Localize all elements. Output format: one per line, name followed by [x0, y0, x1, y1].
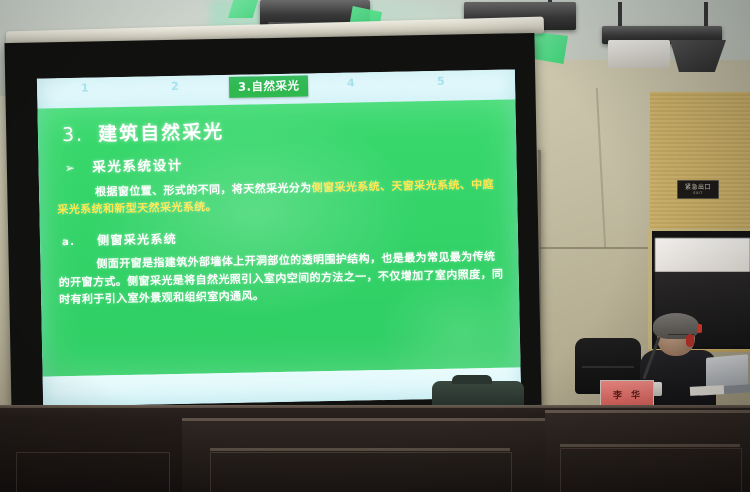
slide-paragraph-2-text: 侧面开窗是指建筑外部墙体上开洞部位的透明围护结构，也是最为常见最为传统的开窗方式… [59, 250, 504, 306]
slide-tab-4[interactable]: 4 [347, 77, 355, 90]
desk-inset-panel-right [560, 448, 742, 492]
slide-title: 3.建筑自然采光 [62, 117, 225, 147]
desk-molding-mid [210, 448, 510, 451]
projector-right-white-unit [608, 40, 670, 68]
emergency-exit-sign: 紧急出口 EXIT [677, 180, 719, 199]
slide-subheading-text: 侧窗采光系统 [97, 232, 177, 248]
papers-on-desk [690, 385, 724, 396]
slide-title-text: 建筑自然采光 [98, 121, 224, 145]
equipment-bag-handle [452, 375, 492, 384]
slide-bullet-heading: ➢采光系统设计 [64, 154, 183, 176]
nameplate-char-1: 李 [613, 388, 623, 401]
lecture-hall-photo: 紧急出口 EXIT 1 2 3.自然采光 4 5 [0, 0, 750, 492]
projection-screen-surface: 1 2 3.自然采光 4 5 3.建筑自然采光 ➢采光系统设计 根据窗位置、形式… [37, 69, 521, 406]
exit-sign-english-label: EXIT [693, 191, 702, 195]
slide-paragraph-1: 根据窗位置、形式的不同，将天然采光分为侧窗采光系统、天窗采光系统、中庭采光系统和… [57, 176, 504, 219]
slide-subheading: a.侧窗采光系统 [62, 230, 177, 249]
slide-tab-5[interactable]: 5 [437, 75, 445, 88]
slide-title-number: 3. [62, 124, 85, 146]
slide-tab-3-active[interactable]: 3.自然采光 [229, 75, 309, 98]
projector-mount-arm-right [704, 2, 708, 28]
projector-mount-arm-left [618, 2, 622, 28]
slide-body: 3.建筑自然采光 ➢采光系统设计 根据窗位置、形式的不同，将天然采光分为侧窗采光… [37, 99, 520, 376]
slide-subheading-label: a. [62, 237, 75, 248]
desk-inset-panel-left [16, 452, 170, 492]
slide-paragraph-1-white: 根据窗位置、形式的不同，将天然采光分为 [95, 181, 312, 198]
desk-inset-panel-mid [210, 452, 512, 492]
microphone-head [686, 334, 694, 347]
slide-tab-2[interactable]: 2 [171, 80, 179, 93]
doorway-light-band [655, 238, 750, 272]
office-chair-seam [582, 366, 634, 368]
bullet-arrow-icon: ➢ [64, 161, 76, 175]
indicator-light [697, 324, 702, 333]
desk-nameplate: 李 华 [600, 380, 654, 408]
paragraph-indent [57, 196, 95, 197]
slide-bullet-text: 采光系统设计 [92, 158, 183, 176]
slide-tab-1[interactable]: 1 [81, 82, 89, 95]
slide-paragraph-2: 侧面开窗是指建筑外部墙体上开洞部位的透明围护结构，也是最为常见最为传统的开窗方式… [58, 248, 505, 309]
desk-molding-right [560, 444, 740, 447]
projector-flap [670, 40, 726, 72]
projector-center-green-reflection [530, 32, 568, 64]
paragraph-indent [59, 268, 97, 269]
nameplate-char-2: 华 [631, 388, 641, 401]
